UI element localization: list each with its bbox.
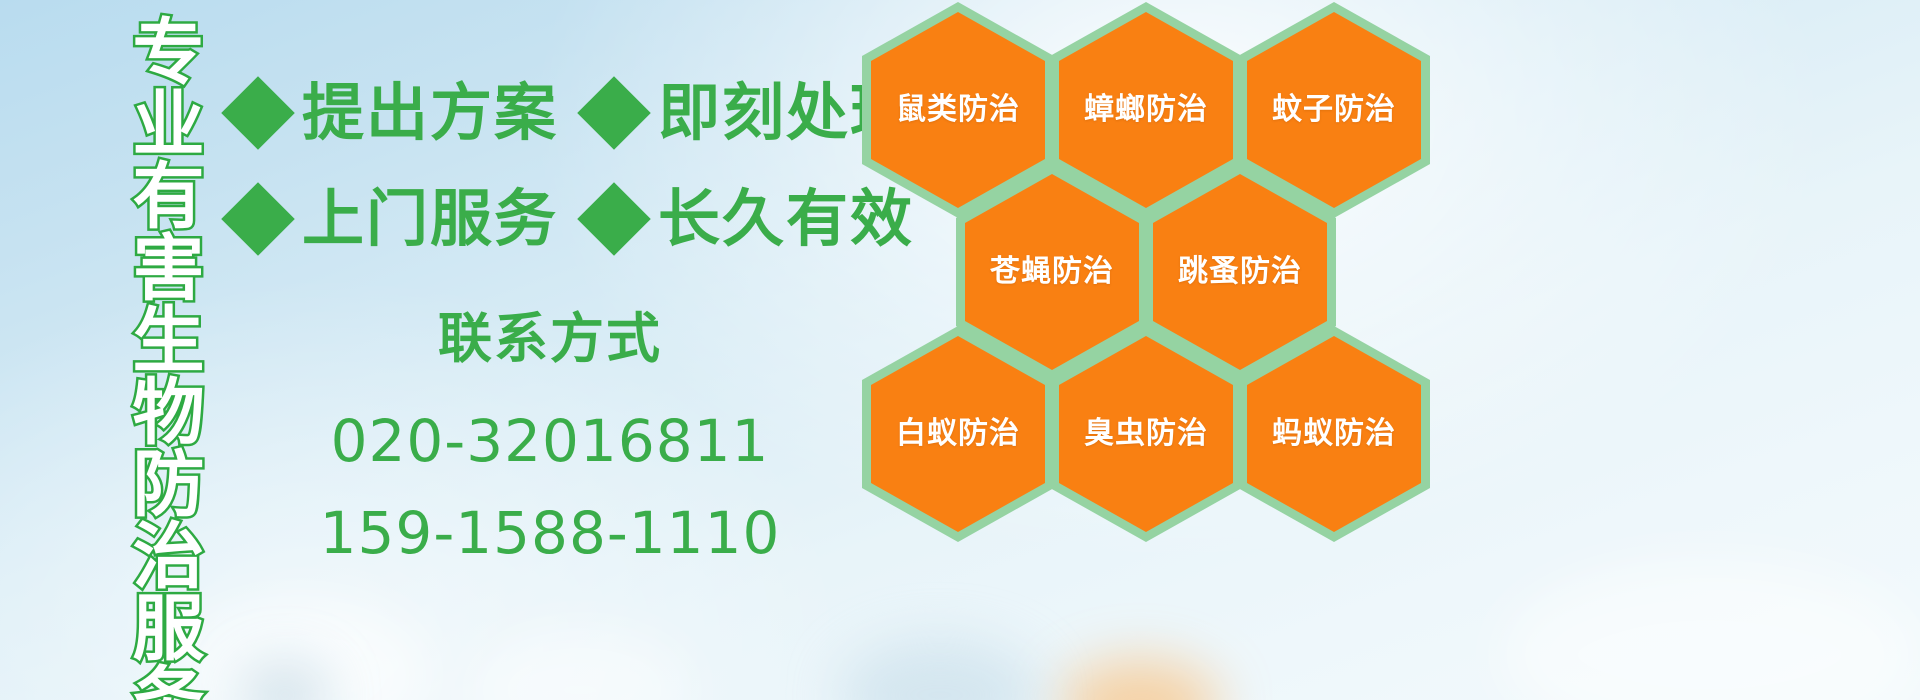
- background-blur-shape: [1500, 560, 1920, 700]
- service-label: 臭虫防治: [1084, 419, 1208, 449]
- pest-control-banner: 专业有害生物防治服务 提出方案 即刻处理 上门服务 长久有效 联系方式 020-…: [0, 0, 1920, 700]
- feature-label: 上门服务: [302, 188, 558, 250]
- feature-row: 提出方案 即刻处理: [232, 82, 920, 144]
- vertical-title: 专业有害生物防治服务: [106, 14, 198, 700]
- background-blur-shape: [240, 660, 330, 700]
- service-label: 白蚁防治: [896, 419, 1020, 449]
- diamond-icon: [221, 182, 295, 256]
- phone-number-landline[interactable]: 020-32016811: [300, 412, 800, 470]
- service-honeycomb: 鼠类防治 蟑螂防治 蚊子防治 苍蝇防治: [856, 0, 1456, 700]
- hexagon-inner: 白蚁防治: [871, 336, 1045, 532]
- service-label: 跳蚤防治: [1178, 257, 1302, 287]
- service-label: 鼠类防治: [896, 95, 1020, 125]
- service-hexagon[interactable]: 蚂蚁防治: [1238, 326, 1430, 542]
- diamond-icon: [577, 182, 651, 256]
- diamond-icon: [577, 76, 651, 150]
- background-blur-shape: [470, 630, 690, 700]
- contact-block: 联系方式 020-32016811 159-1588-1110: [300, 312, 800, 562]
- service-hexagon[interactable]: 臭虫防治: [1050, 326, 1242, 542]
- service-label: 蚊子防治: [1272, 95, 1396, 125]
- feature-label: 提出方案: [302, 82, 558, 144]
- hexagon-inner: 臭虫防治: [1059, 336, 1233, 532]
- feature-row: 上门服务 长久有效: [232, 188, 920, 250]
- hexagon-inner: 蚂蚁防治: [1247, 336, 1421, 532]
- hexagon-shape: 白蚁防治: [862, 326, 1054, 542]
- service-label: 蚂蚁防治: [1272, 419, 1396, 449]
- service-hexagon[interactable]: 白蚁防治: [862, 326, 1054, 542]
- diamond-icon: [221, 76, 295, 150]
- hexagon-shape: 蚂蚁防治: [1238, 326, 1430, 542]
- phone-number-mobile[interactable]: 159-1588-1110: [300, 504, 800, 562]
- service-label: 苍蝇防治: [990, 257, 1114, 287]
- background-blur-shape: [170, 600, 430, 700]
- hexagon-shape: 臭虫防治: [1050, 326, 1242, 542]
- service-label: 蟑螂防治: [1084, 95, 1208, 125]
- contact-title: 联系方式: [300, 312, 800, 366]
